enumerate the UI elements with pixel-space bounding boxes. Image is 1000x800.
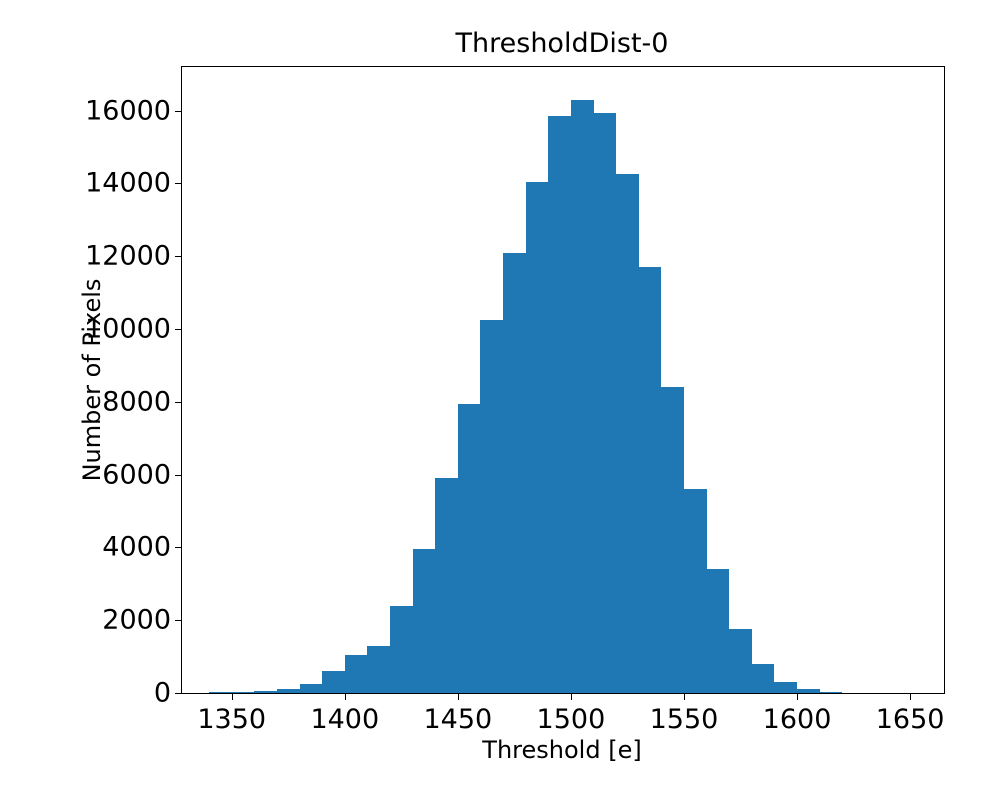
y-axis-tick-mark	[175, 475, 182, 476]
x-axis-tick-mark	[345, 693, 346, 700]
y-axis-tick-label: 12000	[85, 243, 171, 270]
x-axis-tick-label: 1450	[423, 705, 492, 735]
x-axis-tick-label: 1600	[763, 705, 832, 735]
x-axis-tick-mark	[910, 693, 911, 700]
histogram-bar	[820, 692, 843, 693]
histogram-bar	[277, 689, 300, 693]
y-axis-tick-label: 2000	[102, 607, 171, 634]
histogram-bar	[797, 689, 820, 693]
y-axis-tick-label: 4000	[102, 534, 171, 561]
x-axis-tick-mark	[797, 693, 798, 700]
y-axis-tick-mark	[175, 620, 182, 621]
histogram-bar	[729, 629, 752, 693]
x-axis-tick-mark	[458, 693, 459, 700]
histogram-bar	[232, 692, 255, 693]
histogram-bar	[367, 646, 390, 693]
y-axis-tick-mark	[175, 183, 182, 184]
histogram-bar	[752, 664, 775, 693]
histogram-bar	[503, 253, 526, 693]
y-axis-tick-label: 6000	[102, 461, 171, 488]
histogram-plot-area	[182, 67, 944, 693]
x-axis-tick-label: 1500	[537, 705, 606, 735]
histogram-bar	[548, 116, 571, 693]
y-axis-label: Number of Pixels	[75, 67, 109, 693]
figure: ThresholdDist-0 Number of Pixels 0200040…	[0, 0, 1000, 800]
histogram-bar	[322, 671, 345, 693]
histogram-bar	[571, 100, 594, 693]
chart-title: ThresholdDist-0	[181, 28, 943, 60]
histogram-bar	[616, 174, 639, 693]
y-axis-tick-mark	[175, 256, 182, 257]
x-axis-tick-mark	[571, 693, 572, 700]
x-axis-tick-label: 1350	[197, 705, 266, 735]
x-axis-tick-label: 1650	[876, 705, 945, 735]
y-axis-tick-mark	[175, 547, 182, 548]
histogram-bar	[707, 569, 730, 693]
x-axis-label: Threshold [e]	[181, 735, 943, 765]
histogram-bar	[345, 655, 368, 693]
y-axis-tick-mark	[175, 111, 182, 112]
histogram-bar	[594, 113, 617, 694]
histogram-bar	[390, 606, 413, 693]
histogram-bar	[300, 684, 323, 693]
y-axis-tick-label: 14000	[85, 170, 171, 197]
y-axis-tick-mark	[175, 329, 182, 330]
y-axis-tick-label: 10000	[85, 316, 171, 343]
y-axis-tick-mark	[175, 693, 182, 694]
x-axis-tick-label: 1550	[650, 705, 719, 735]
histogram-bar	[458, 404, 481, 693]
x-axis-tick-label: 1400	[310, 705, 379, 735]
histogram-bar	[661, 387, 684, 693]
histogram-bar	[254, 691, 277, 693]
histogram-bar	[684, 489, 707, 693]
histogram-bar	[774, 682, 797, 693]
histogram-bar	[480, 320, 503, 693]
y-axis-tick-label: 16000	[85, 97, 171, 124]
histogram-bar	[435, 478, 458, 693]
histogram-bar	[639, 267, 662, 693]
histogram-bar	[209, 692, 232, 693]
histogram-bar	[526, 182, 549, 693]
y-axis-tick-mark	[175, 402, 182, 403]
plot-axes: Number of Pixels 02000400060008000100001…	[181, 66, 945, 694]
x-axis-tick-mark	[232, 693, 233, 700]
x-axis-tick-mark	[684, 693, 685, 700]
y-axis-tick-label: 0	[154, 680, 171, 707]
y-axis-tick-label: 8000	[102, 388, 171, 415]
histogram-bar	[413, 549, 436, 693]
